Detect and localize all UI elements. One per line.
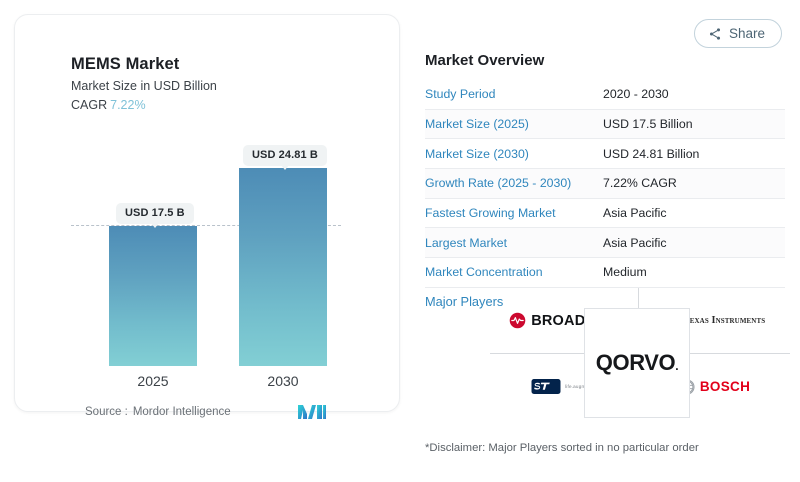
bar-2025 [109, 226, 197, 366]
table-row: Fastest Growing Market Asia Pacific [425, 199, 785, 229]
x-axis-label-2025: 2025 [109, 373, 197, 389]
table-row: Market Concentration Medium [425, 258, 785, 288]
st-mark-icon [531, 378, 561, 395]
market-overview-title: Market Overview [425, 52, 544, 69]
row-key: Fastest Growing Market [425, 206, 603, 220]
table-row: Growth Rate (2025 - 2030) 7.22% CAGR [425, 169, 785, 199]
row-value: USD 24.81 Billion [603, 147, 699, 161]
chart-card: MEMS Market Market Size in USD Billion C… [14, 14, 400, 412]
chart-cagr-label: CAGR [71, 98, 107, 112]
bar-value-label-2030: USD 24.81 B [243, 145, 327, 166]
market-report-page: MEMS Market Market Size in USD Billion C… [0, 0, 800, 482]
source-line: Source :Mordor Intelligence [85, 406, 231, 418]
source-name: Mordor Intelligence [133, 406, 231, 418]
chart-cagr: CAGR7.22% [71, 98, 146, 112]
row-value: Medium [603, 265, 647, 279]
qorvo-logo-text: QORVO [596, 350, 676, 375]
table-row: Study Period 2020 - 2030 [425, 80, 785, 110]
bar-2030 [239, 168, 327, 366]
row-key: Study Period [425, 87, 603, 101]
qorvo-logo-dot: . [675, 359, 678, 373]
bar-chart-plot [29, 125, 385, 365]
broadcom-mark-icon [509, 312, 526, 329]
bosch-logo-text: BOSCH [700, 379, 750, 394]
mordor-intelligence-logo [298, 402, 326, 420]
row-value: USD 17.5 Billion [603, 117, 693, 131]
table-row: Largest Market Asia Pacific [425, 228, 785, 258]
share-button[interactable]: Share [694, 19, 782, 48]
table-row: Market Size (2030) USD 24.81 Billion [425, 139, 785, 169]
chart-title: MEMS Market [71, 55, 179, 74]
table-row: Market Size (2025) USD 17.5 Billion [425, 110, 785, 140]
qorvo-logo: QORVO. [596, 350, 678, 376]
bar-value-label-2025: USD 17.5 B [116, 203, 194, 224]
x-axis-label-2030: 2030 [239, 373, 327, 389]
share-button-label: Share [729, 26, 765, 41]
row-value: Asia Pacific [603, 236, 667, 250]
row-key: Market Size (2025) [425, 117, 603, 131]
row-value: 2020 - 2030 [603, 87, 669, 101]
row-value: 7.22% CAGR [603, 176, 677, 190]
row-key: Market Concentration [425, 265, 603, 279]
major-players-disclaimer: *Disclaimer: Major Players sorted in no … [425, 442, 699, 454]
row-key: Market Size (2030) [425, 147, 603, 161]
chart-cagr-value: 7.22% [110, 98, 145, 112]
chart-subtitle: Market Size in USD Billion [71, 79, 217, 93]
logo-cell-qorvo: QORVO. [584, 308, 690, 418]
texas-instruments-logo-text: Texas Instruments [683, 315, 765, 326]
major-players-logo-grid: BROADCOM TI Texas Instruments life.augme… [490, 288, 790, 418]
share-icon [708, 27, 722, 41]
row-key: Growth Rate (2025 - 2030) [425, 176, 603, 190]
row-value: Asia Pacific [603, 206, 667, 220]
row-key: Largest Market [425, 236, 603, 250]
market-overview-table: Study Period 2020 - 2030 Market Size (20… [425, 80, 785, 288]
source-label: Source : [85, 406, 128, 418]
